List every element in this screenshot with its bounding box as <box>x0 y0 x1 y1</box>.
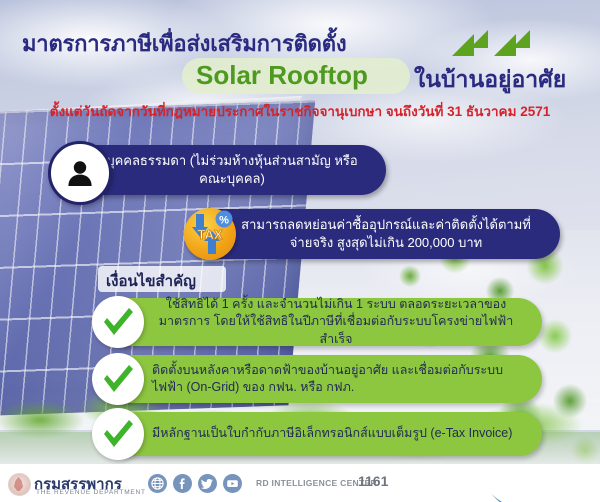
condition-bubble-1: ใช้สิทธิได้ 1 ครั้ง และจำนวนไม่เกิน 1 ระ… <box>104 298 542 346</box>
infographic-poster: มาตรการภาษีเพื่อส่งเสริมการติดตั้ง Solar… <box>0 0 600 502</box>
social-links-row <box>148 474 242 493</box>
person-icon <box>48 141 112 205</box>
check-icon <box>92 353 144 405</box>
tax-refund-icon: % TAX <box>184 208 236 260</box>
condition-bubble-3: มีหลักฐานเป็นใบกำกับภาษีอิเล็กทรอนิกส์แบ… <box>104 412 542 456</box>
condition-bubble-2-text: ติดตั้งบนหลังคาหรือดาดฟ้าของบ้านอยู่อาศั… <box>104 356 542 403</box>
contact-center-number: 1161 <box>358 473 388 489</box>
info-bubble-tax-text: สามารถลดหย่อนค่าซื้ออุปกรณ์และค่าติดตั้ง… <box>186 210 560 257</box>
page-title-line2-tail: ในบ้านอยู่อาศัย <box>414 62 566 98</box>
condition-bubble-3-text: มีหลักฐานเป็นใบกำกับภาษีอิเล็กทรอนิกส์แบ… <box>104 419 542 449</box>
svg-text:%: % <box>219 215 229 227</box>
youtube-icon[interactable] <box>223 474 242 493</box>
double-up-right-arrow-icon <box>448 26 540 60</box>
footer-swoosh-decoration <box>476 464 600 502</box>
page-subtitle: ตั้งแต่วันถัดจากวันที่กฎหมายประกาศในราชก… <box>0 100 600 122</box>
info-bubble-tax-deduction: สามารถลดหย่อนค่าซื้ออุปกรณ์และค่าติดตั้ง… <box>186 209 560 259</box>
condition-bubble-2: ติดตั้งบนหลังคาหรือดาดฟ้าของบ้านอยู่อาศั… <box>104 355 542 403</box>
facebook-icon[interactable] <box>173 474 192 493</box>
page-title-line1: มาตรการภาษีเพื่อส่งเสริมการติดตั้ง <box>22 26 346 61</box>
twitter-icon[interactable] <box>198 474 217 493</box>
check-icon <box>92 408 144 460</box>
svg-text:TAX: TAX <box>197 227 222 242</box>
globe-icon[interactable] <box>148 474 167 493</box>
footer-bar: กรมสรรพากร THE REVENUE DEPARTMENT <box>0 464 600 502</box>
condition-bubble-1-text: ใช้สิทธิได้ 1 ครั้ง และจำนวนไม่เกิน 1 ระ… <box>104 290 542 355</box>
revenue-department-emblem-icon <box>8 473 31 496</box>
page-title-highlight: Solar Rooftop <box>196 60 368 91</box>
check-icon <box>92 296 144 348</box>
organization-name-en: THE REVENUE DEPARTMENT <box>36 489 146 496</box>
